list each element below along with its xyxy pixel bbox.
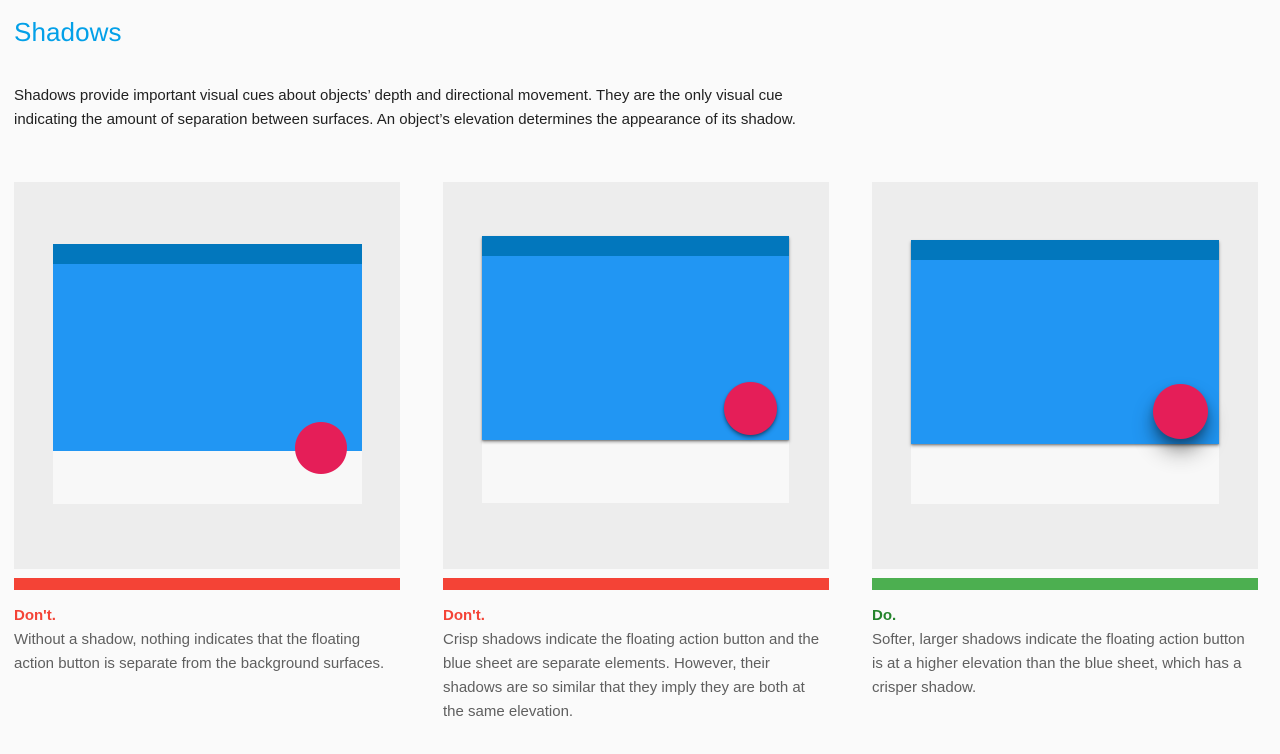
page-intro-paragraph: Shadows provide important visual cues ab… [14,48,826,132]
floating-action-button-1[interactable] [295,422,347,474]
example-stage-2 [443,182,829,569]
example-card-list: Don't. Without a shadow, nothing indicat… [14,132,1266,724]
floating-action-button-3[interactable] [1153,384,1208,439]
caption-body-1: Without a shadow, nothing indicates that… [14,628,400,676]
shadows-guideline-page: Shadows Shadows provide important visual… [0,0,1280,754]
example-card-soft-layered-shadow: Do. Softer, larger shadows indicate the … [872,182,1258,724]
example-stage-1 [14,182,400,569]
verdict-label-1: Don't. [14,604,400,628]
page-title: Shadows [14,0,1266,48]
caption-2: Don't. Crisp shadows indicate the floati… [443,590,829,724]
app-bar-2 [482,236,789,256]
verdict-label-3: Do. [872,604,1258,628]
app-bar-1 [53,244,362,264]
caption-3: Do. Softer, larger shadows indicate the … [872,590,1258,700]
blue-sheet-1 [53,244,362,451]
example-stage-3 [872,182,1258,569]
verdict-label-2: Don't. [443,604,829,628]
status-rule-2 [443,578,829,590]
caption-body-3: Softer, larger shadows indicate the floa… [872,628,1258,700]
app-bar-3 [911,240,1219,260]
example-card-no-shadow: Don't. Without a shadow, nothing indicat… [14,182,400,724]
status-rule-3 [872,578,1258,590]
floating-action-button-2[interactable] [724,382,777,435]
caption-body-2: Crisp shadows indicate the floating acti… [443,628,829,724]
caption-1: Don't. Without a shadow, nothing indicat… [14,590,400,676]
status-rule-1 [14,578,400,590]
example-card-crisp-equal-shadow: Don't. Crisp shadows indicate the floati… [443,182,829,724]
